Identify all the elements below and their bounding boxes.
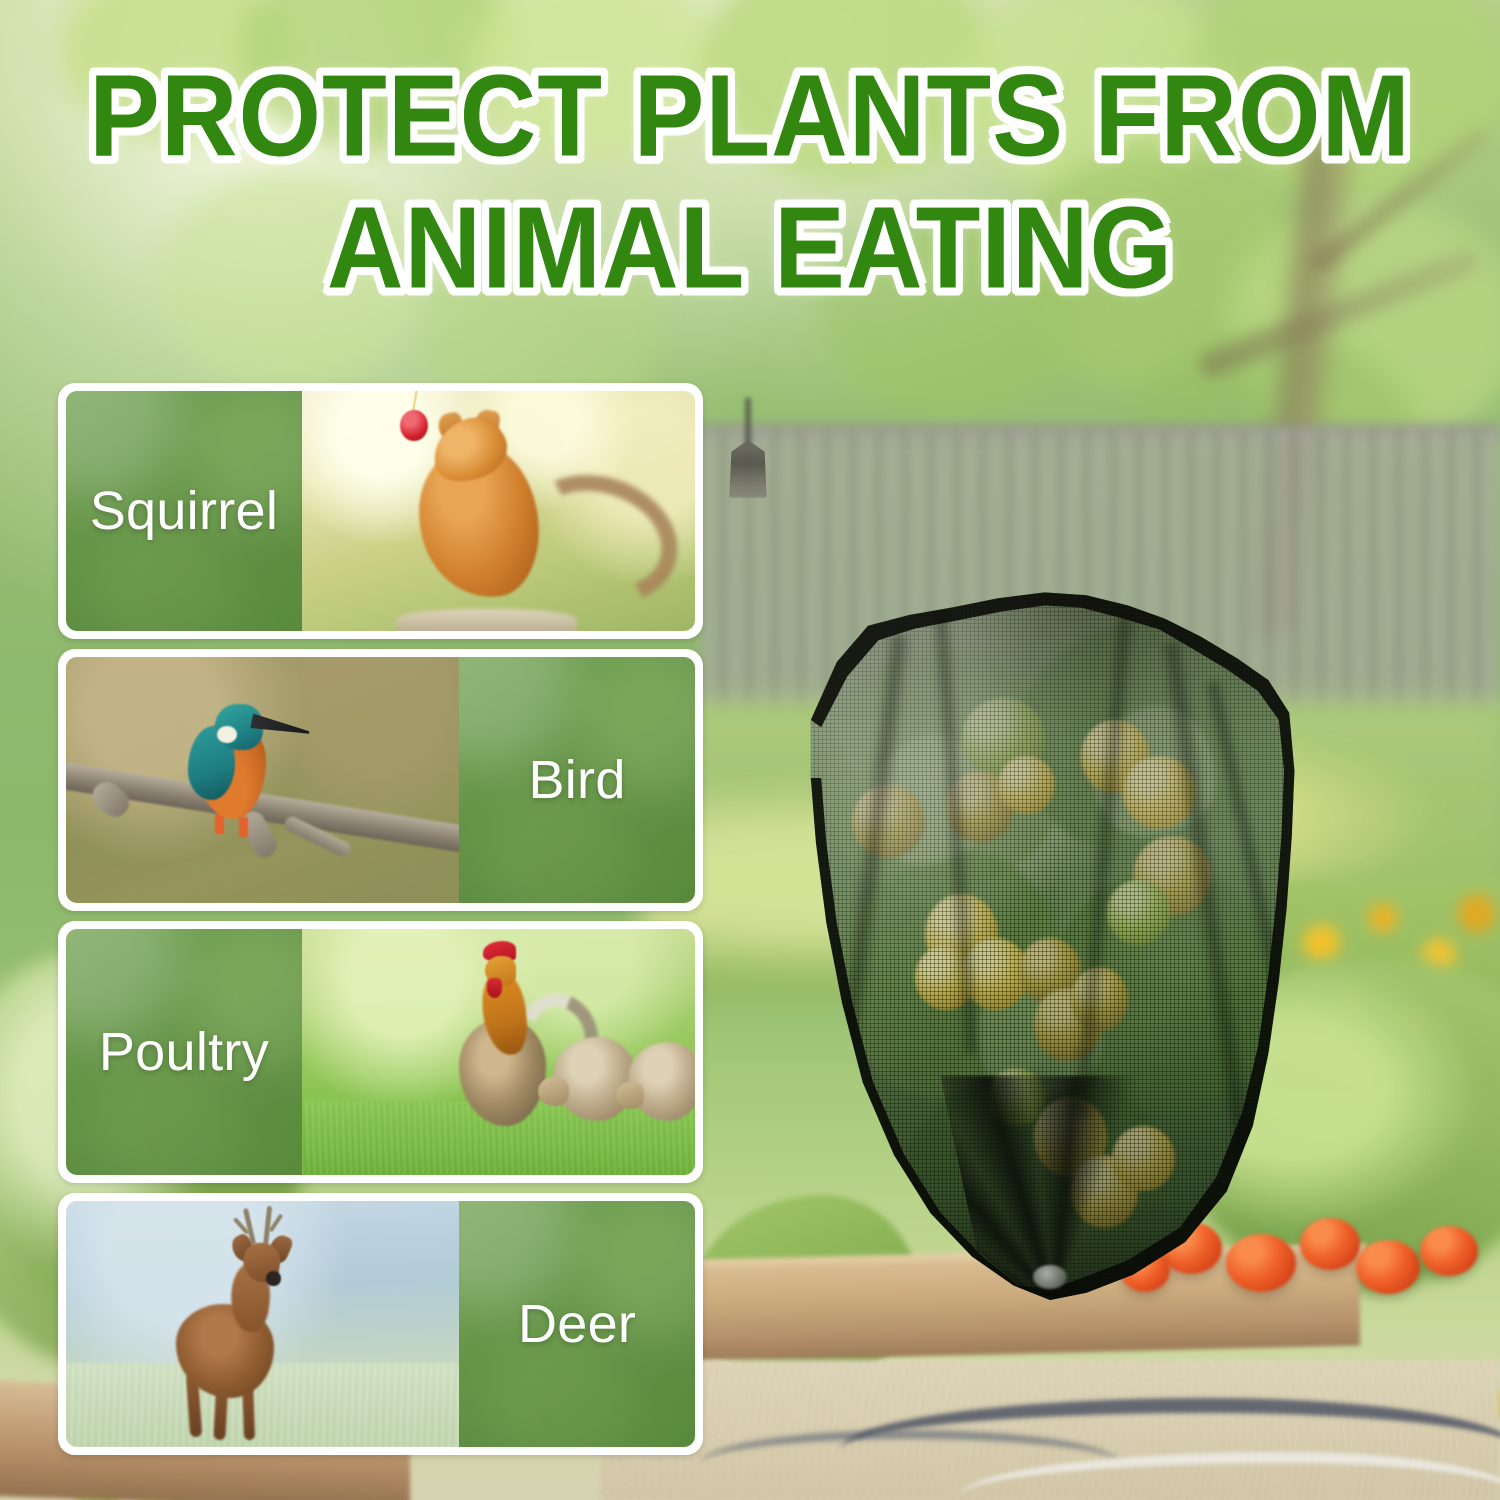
tomato-red	[1420, 1226, 1478, 1276]
product-mesh-bag	[790, 575, 1310, 1300]
deer-antler	[269, 1214, 283, 1233]
squirrel-perch	[396, 609, 577, 631]
lantern-arm	[745, 398, 751, 446]
card-label-pane-deer: Deer	[459, 1201, 695, 1447]
deer-nose	[266, 1271, 280, 1286]
rooster-wattle	[487, 978, 503, 998]
animal-card-squirrel[interactable]: Squirrel	[58, 383, 703, 639]
card-photo-deer	[66, 1201, 459, 1447]
hen-head	[538, 1077, 569, 1107]
page-title: PROTECT PLANTS FROM ANIMAL EATING	[0, 58, 1500, 294]
card-photo-poultry	[302, 929, 695, 1175]
mesh-bag-body	[790, 575, 1310, 1300]
animal-card-bird[interactable]: Bird	[58, 649, 703, 911]
headline-line-1: PROTECT PLANTS FROM	[0, 58, 1500, 174]
hen-head	[616, 1082, 644, 1109]
card-photo-squirrel	[302, 391, 695, 631]
card-photo-bird	[66, 657, 459, 903]
drawstring-knot	[1033, 1265, 1067, 1289]
card-label-poultry: Poultry	[99, 1021, 269, 1083]
headline-line-2: ANIMAL EATING	[0, 190, 1500, 306]
tomato-red	[1356, 1240, 1420, 1294]
card-label-deer: Deer	[518, 1293, 636, 1355]
card-label-pane-squirrel: Squirrel	[66, 391, 302, 631]
hen	[553, 1037, 636, 1121]
animal-card-poultry[interactable]: Poultry	[58, 921, 703, 1183]
card-label-squirrel: Squirrel	[90, 480, 278, 542]
card-label-pane-bird: Bird	[459, 657, 695, 903]
animal-card-deer[interactable]: Deer	[58, 1193, 703, 1455]
card-label-pane-poultry: Poultry	[66, 929, 302, 1175]
animal-card-list: Squirrel	[58, 383, 703, 1455]
card-label-bird: Bird	[528, 749, 625, 811]
raspberry	[400, 410, 428, 441]
